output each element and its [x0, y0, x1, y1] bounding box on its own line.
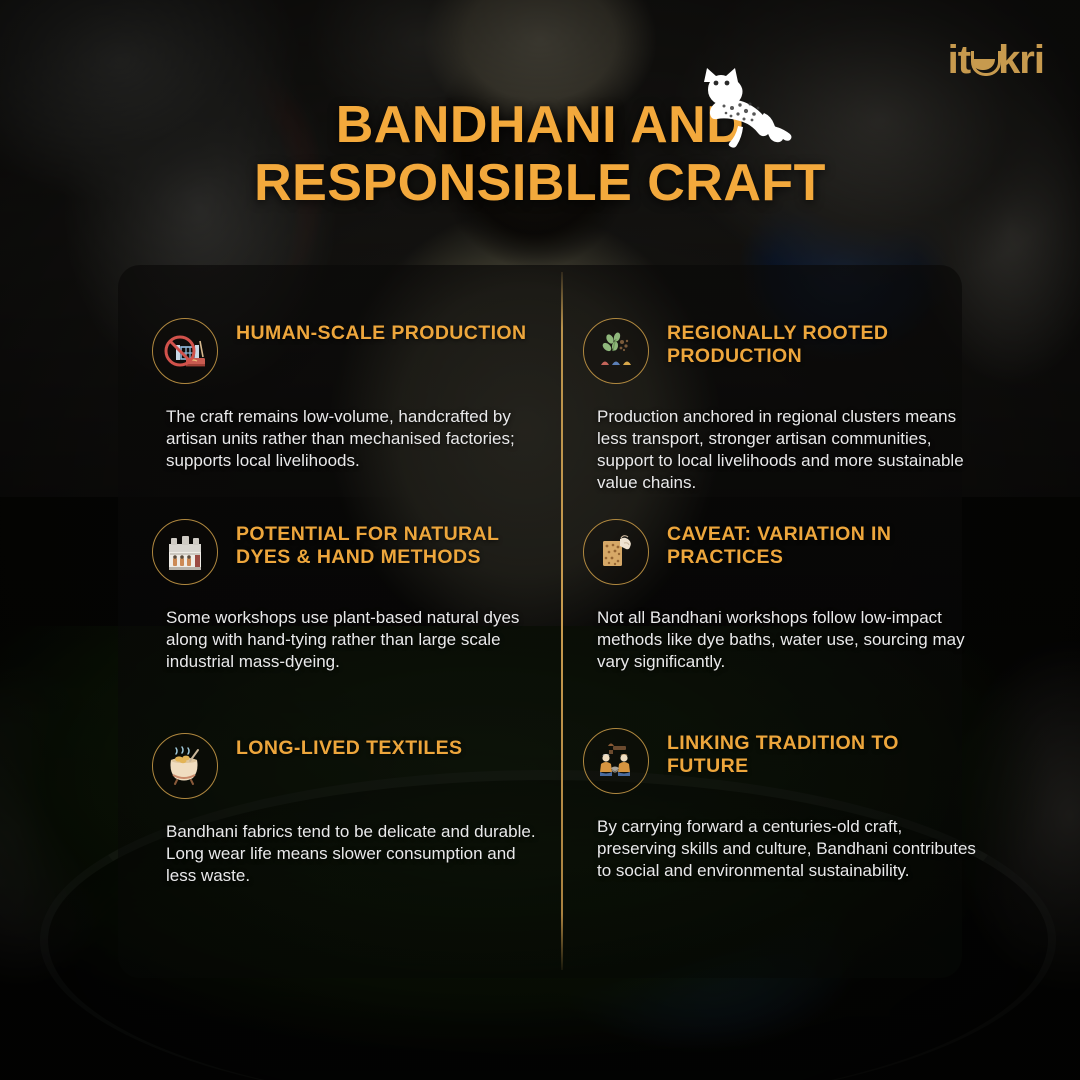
card-caveat-variation: CAVEAT: VARIATION IN PRACTICES Not all B… — [583, 519, 983, 673]
card-linking-tradition-future: LINKING TRADITION TO FUTURE By carrying … — [583, 728, 983, 882]
card-header: POTENTIAL FOR NATURAL DYES & HAND METHOD… — [152, 519, 542, 585]
card-title: LONG-LIVED TEXTILES — [236, 733, 462, 760]
hand-holding-patterned-fabric-icon — [583, 519, 649, 585]
card-human-scale-production: HUMAN-SCALE PRODUCTION The craft remains… — [152, 318, 537, 472]
card-header: CAVEAT: VARIATION IN PRACTICES — [583, 519, 983, 585]
card-body: The craft remains low-volume, handcrafte… — [166, 406, 537, 472]
card-header: HUMAN-SCALE PRODUCTION — [152, 318, 537, 384]
card-body: Some workshops use plant-based natural d… — [166, 607, 542, 673]
card-title: HUMAN-SCALE PRODUCTION — [236, 318, 526, 345]
card-body: Not all Bandhani workshops follow low-im… — [597, 607, 983, 673]
two-artisans-working-icon — [583, 728, 649, 794]
card-body: By carrying forward a centuries-old craf… — [597, 816, 983, 882]
card-title: POTENTIAL FOR NATURAL DYES & HAND METHOD… — [236, 519, 542, 569]
card-header: LINKING TRADITION TO FUTURE — [583, 728, 983, 794]
cards-grid: HUMAN-SCALE PRODUCTION The craft remains… — [0, 0, 1080, 1080]
card-title: LINKING TRADITION TO FUTURE — [667, 728, 983, 778]
leaves-and-pigment-piles-icon — [583, 318, 649, 384]
card-long-lived-textiles: LONG-LIVED TEXTILES Bandhani fabrics ten… — [152, 733, 537, 887]
card-title: CAVEAT: VARIATION IN PRACTICES — [667, 519, 983, 569]
card-body: Production anchored in regional clusters… — [597, 406, 983, 494]
card-regionally-rooted-production: REGIONALLY ROOTED PRODUCTION Production … — [583, 318, 983, 494]
card-title: REGIONALLY ROOTED PRODUCTION — [667, 318, 983, 368]
artisan-workshop-building-icon — [152, 519, 218, 585]
no-factory-icon — [152, 318, 218, 384]
card-potential-natural-dyes: POTENTIAL FOR NATURAL DYES & HAND METHOD… — [152, 519, 542, 673]
steaming-dye-pot-icon — [152, 733, 218, 799]
card-header: LONG-LIVED TEXTILES — [152, 733, 537, 799]
card-header: REGIONALLY ROOTED PRODUCTION — [583, 318, 983, 384]
card-body: Bandhani fabrics tend to be delicate and… — [166, 821, 537, 887]
infographic-poster: itkri BANDHANI AND RESPONSIBLE CRAFT — [0, 0, 1080, 1080]
